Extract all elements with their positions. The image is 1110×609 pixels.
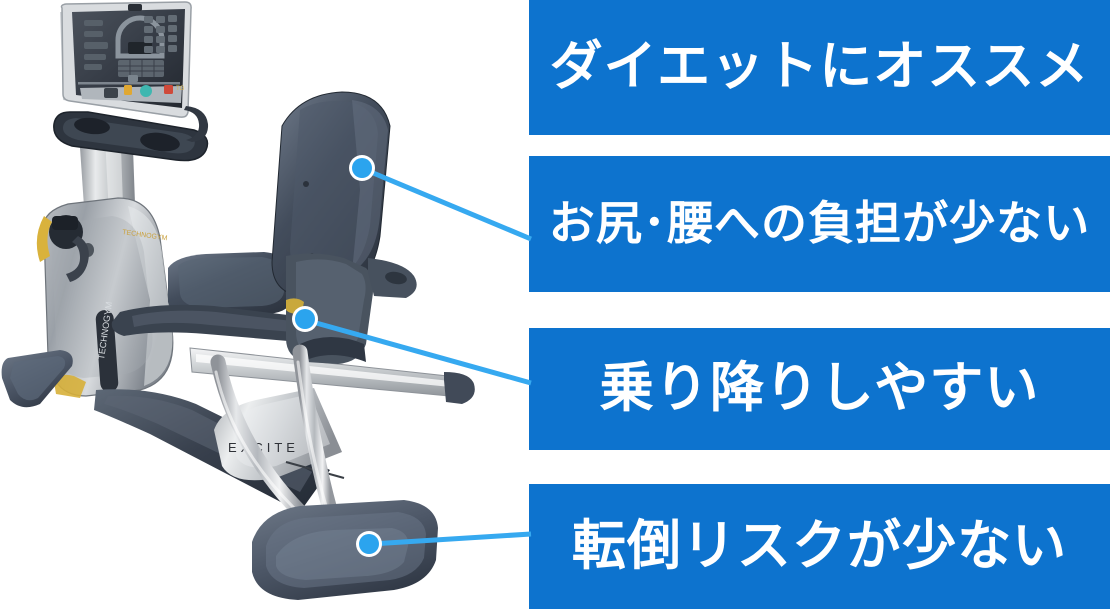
backrest-screw <box>303 181 309 187</box>
seat-adjust-lever <box>286 298 304 313</box>
callout-label-hip-back-load: お尻･腰への負担が少ない <box>549 200 1090 246</box>
console-keypad-block <box>118 60 164 77</box>
console-go-button <box>140 85 152 97</box>
callout-label-fall-risk: 転倒リスクが少ない <box>572 519 1067 573</box>
pedal-plate <box>52 216 78 230</box>
rail-end-cap <box>444 372 475 404</box>
poster-canvas: TG TECHNOGYM TECHNOGYM <box>0 0 1110 609</box>
callout-box-diet[interactable]: ダイエットにオススメ <box>529 0 1110 135</box>
callout-box-hip-back-load[interactable]: お尻･腰への負担が少ない <box>529 156 1110 292</box>
callout-box-easy-mount[interactable]: 乗り降りしやすい <box>529 328 1110 450</box>
product-image-recumbent-bike: TG TECHNOGYM TECHNOGYM <box>0 0 529 609</box>
callout-label-easy-mount: 乗り降りしやすい <box>600 361 1040 415</box>
callout-label-diet: ダイエットにオススメ <box>550 40 1090 93</box>
console-divider <box>78 82 180 85</box>
rear-stabilizer-foot <box>252 500 438 600</box>
console-amber-button <box>124 85 132 95</box>
model-text-excite: EXCITE <box>228 440 299 455</box>
console-brand-mark: TG <box>176 86 185 92</box>
callout-box-fall-risk[interactable]: 転倒リスクが少ない <box>529 484 1110 609</box>
console-top-nub <box>128 4 142 11</box>
console-assembly: TG <box>60 2 191 118</box>
console-stop-button <box>164 85 173 94</box>
